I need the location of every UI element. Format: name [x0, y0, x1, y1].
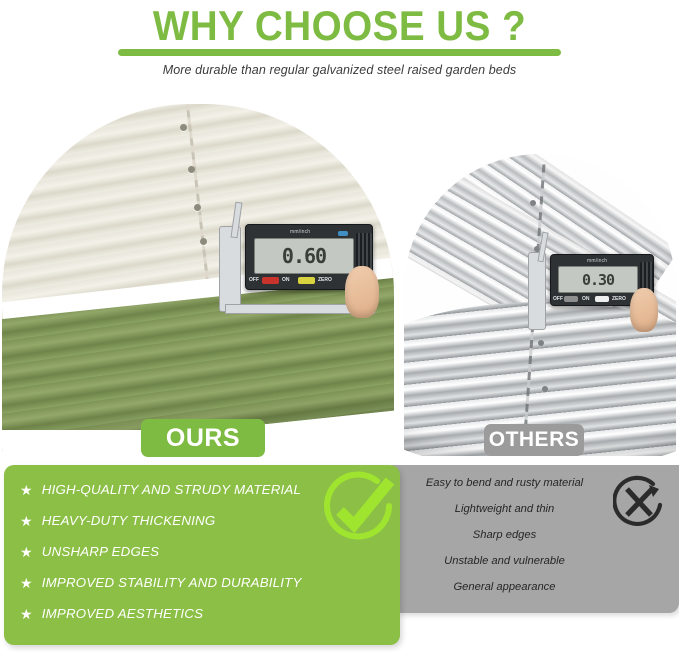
caliper-zero-label: ZERO	[612, 296, 626, 302]
hand-thumb	[630, 288, 658, 332]
others-badge: OTHERS	[484, 424, 584, 456]
caliper-on-label: ON	[282, 277, 290, 283]
others-panel: Easy to bend and rusty material Lightwei…	[392, 465, 679, 613]
hand-thumb	[345, 266, 379, 318]
ours-product-photo: mm/inch 0.60 OFF ON ZERO	[2, 104, 394, 456]
title-underline	[118, 49, 561, 56]
infographic-page: WHY CHOOSE US ? More durable than regula…	[0, 0, 679, 655]
caliper-on-label: ON	[582, 296, 590, 302]
cross-mark-icon	[613, 475, 665, 527]
panel-divider	[0, 461, 679, 464]
list-item-label: HEAVY-DUTY THICKENING	[42, 513, 216, 528]
caliper-jaw	[219, 226, 241, 312]
ours-badge: OURS	[141, 419, 265, 457]
caliper-jaw	[528, 252, 546, 330]
page-subtitle: More durable than regular galvanized ste…	[0, 63, 679, 77]
caliper-off-button[interactable]	[564, 296, 578, 302]
caliper-off-label: OFF	[249, 277, 259, 283]
check-mark-icon	[320, 471, 396, 547]
list-item-label: UNSHARP EDGES	[42, 544, 159, 559]
caliper-zero-button[interactable]	[595, 296, 609, 302]
list-item: Easy to bend and rusty material	[402, 477, 607, 490]
ours-badge-label: OURS	[166, 424, 240, 453]
rivet	[180, 124, 187, 131]
list-item: General appearance	[402, 581, 607, 594]
rivet	[542, 386, 548, 392]
list-item: Lightweight and thin	[402, 503, 607, 516]
caliper-reading: 0.60	[282, 244, 326, 268]
others-product-photo: mm/inch 0.30 OFF ON ZERO	[404, 154, 676, 456]
caliper-unit-label: mm/inch	[587, 258, 607, 264]
caliper-blue-button[interactable]	[338, 231, 348, 236]
others-feature-list: Easy to bend and rusty material Lightwei…	[402, 477, 607, 607]
caliper-off-button[interactable]	[262, 277, 279, 284]
header: WHY CHOOSE US ? More durable than regula…	[0, 0, 679, 92]
star-icon: ★	[20, 576, 33, 590]
digital-caliper-others: mm/inch 0.30 OFF ON ZERO	[526, 238, 676, 358]
star-icon: ★	[20, 514, 33, 528]
ours-panel: ★ HIGH-QUALITY AND STRUDY MATERIAL ★ HEA…	[4, 465, 400, 645]
digital-caliper-ours: mm/inch 0.60 OFF ON ZERO	[217, 208, 394, 348]
rivet	[194, 204, 201, 211]
list-item: ★ IMPROVED STABILITY AND DURABILITY	[20, 575, 392, 590]
rivet	[530, 200, 536, 206]
caliper-screen: 0.30	[558, 266, 638, 293]
star-icon: ★	[20, 607, 33, 621]
caliper-off-label: OFF	[553, 296, 563, 302]
list-item-label: IMPROVED STABILITY AND DURABILITY	[42, 575, 302, 590]
list-item: Unstable and vulnerable	[402, 555, 607, 568]
list-item: Sharp edges	[402, 529, 607, 542]
rivet	[188, 166, 195, 173]
list-item-label: IMPROVED AESTHETICS	[42, 606, 203, 621]
caliper-unit-label: mm/inch	[290, 229, 310, 235]
list-item-label: HIGH-QUALITY AND STRUDY MATERIAL	[42, 482, 301, 497]
caliper-zero-label: ZERO	[318, 277, 332, 283]
others-badge-label: OTHERS	[489, 428, 580, 452]
star-icon: ★	[20, 483, 33, 497]
rivet	[200, 238, 207, 245]
caliper-zero-button[interactable]	[298, 277, 315, 284]
list-item: ★ IMPROVED AESTHETICS	[20, 606, 392, 621]
caliper-screen: 0.60	[254, 238, 354, 274]
product-photos: mm/inch 0.60 OFF ON ZERO	[0, 96, 679, 464]
page-title: WHY CHOOSE US ?	[27, 2, 652, 50]
star-icon: ★	[20, 545, 33, 559]
caliper-reading: 0.30	[582, 271, 614, 289]
